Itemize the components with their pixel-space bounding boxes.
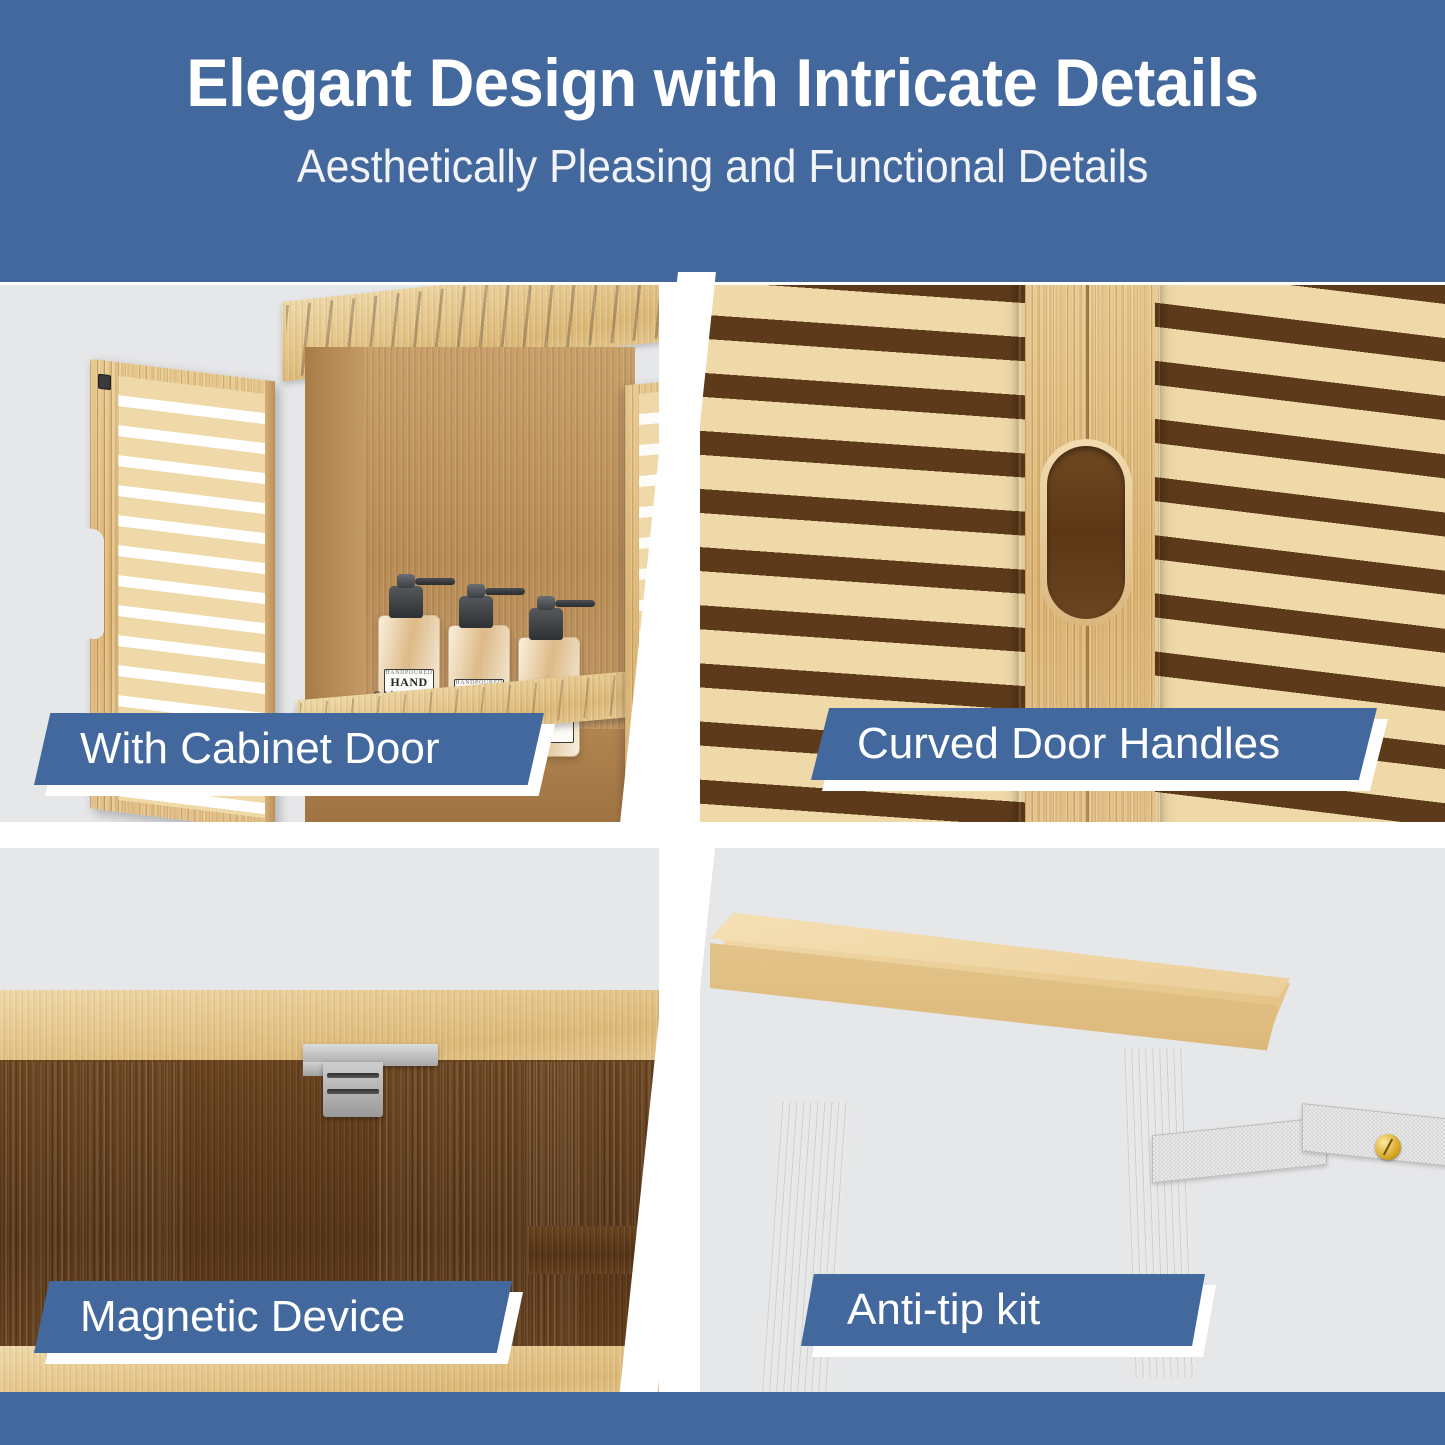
magnet-slot-upper [327,1073,379,1078]
magnetic-catch-tab [303,1062,325,1076]
infographic-page: Elegant Design with Intricate Details Ae… [0,0,1445,1445]
magnet-slot-lower [327,1089,379,1094]
page-subtitle: Aesthetically Pleasing and Functional De… [297,139,1148,193]
magnetic-catch-body [323,1062,383,1117]
header-banner: Elegant Design with Intricate Details Ae… [0,0,1445,282]
handle-bevel-ring [1040,439,1132,626]
label-anti-tip-kit: Anti-tip kit [801,1274,1205,1346]
header-divider [0,282,1445,285]
pump-neck [537,596,555,610]
door-handle-notch[interactable] [82,528,104,641]
footer-bar [0,1392,1445,1445]
pump-dispenser-icon [389,586,423,618]
label-curved-door-handles: Curved Door Handles [811,708,1377,780]
pump-dispenser-icon [459,596,493,628]
pump-spout [485,588,525,595]
anti-tip-bracket [1152,1106,1445,1181]
brass-screw-icon [1375,1134,1401,1160]
label-line-1: HANDPOURED [385,670,432,676]
page-title: Elegant Design with Intricate Details [186,48,1258,119]
horizontal-divider [0,822,1445,848]
pump-neck [467,584,485,598]
pump-neck [397,574,415,588]
pump-dispenser-icon [529,608,563,640]
hinge-icon [98,374,111,391]
bracket-strap-left [1152,1117,1327,1183]
pump-spout [415,578,455,585]
label-with-cabinet-door: With Cabinet Door [34,713,544,785]
pump-spout [555,600,595,607]
label-line-2a: HAND [390,676,427,689]
label-magnetic-device: Magnetic Device [34,1281,512,1353]
interior-side-panel [305,347,365,737]
